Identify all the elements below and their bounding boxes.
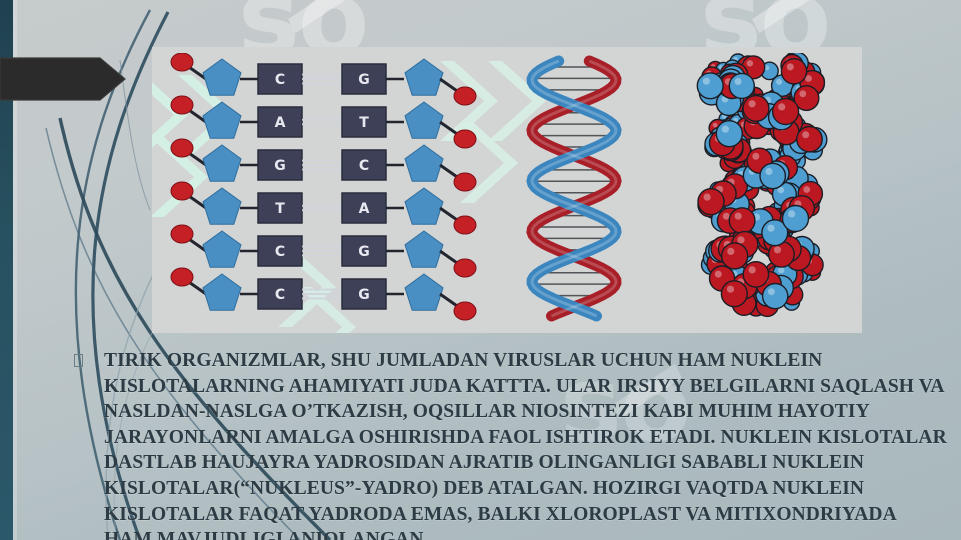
svg-text:C: C	[359, 158, 369, 174]
svg-text:G: G	[358, 244, 370, 260]
arrow-banner-shape	[0, 56, 126, 102]
svg-text:C: C	[275, 244, 285, 260]
svg-text:G: G	[358, 72, 370, 88]
presentation-slide: so so so	[0, 0, 961, 540]
svg-text:C: C	[275, 72, 285, 88]
svg-text:G: G	[274, 158, 286, 174]
slide-body-text-block: TIRIK ORGANIZMLAR, SHU JUMLADAN VIRUSLAR…	[70, 348, 948, 540]
dna-ladder-diagram: CGATGCTACGCG	[164, 53, 494, 325]
body-paragraph: TIRIK ORGANIZMLAR, SHU JUMLADAN VIRUSLAR…	[104, 348, 948, 540]
svg-text:A: A	[275, 115, 286, 131]
svg-text:T: T	[359, 115, 369, 131]
bullet-marker-icon	[70, 348, 104, 374]
svg-text:A: A	[359, 201, 370, 217]
figure-image-panel: CGATGCTACGCG	[152, 47, 862, 333]
svg-text:T: T	[275, 201, 285, 217]
svg-text:G: G	[358, 287, 370, 303]
svg-text:C: C	[275, 287, 285, 303]
dna-double-helix-diagram	[504, 55, 644, 327]
dna-spacefill-model	[672, 53, 852, 325]
